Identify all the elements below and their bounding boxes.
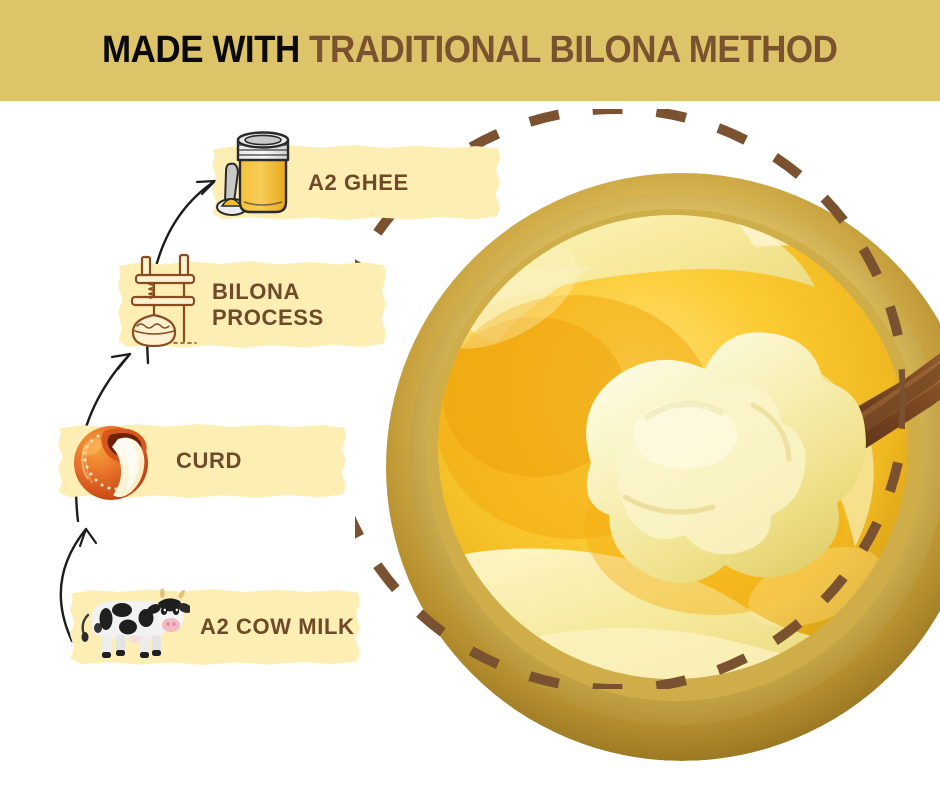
flow-step-a2-cow-milk[interactable]: A2 COW MILK xyxy=(70,589,360,665)
flow-step-label-curd: CURD xyxy=(176,448,242,474)
flow-step-label-a2-cow-milk: A2 COW MILK xyxy=(200,614,354,640)
page-title-accent: TRADITIONAL BILONA METHOD xyxy=(309,29,837,71)
page-title: MADE WITH TRADITIONAL BILONA METHOD xyxy=(102,29,837,72)
page-title-primary: MADE WITH xyxy=(102,29,309,71)
flow-step-bilona[interactable]: BILONA PROCESS xyxy=(118,261,386,348)
cow-icon xyxy=(78,585,190,665)
flow-step-curd[interactable]: CURD xyxy=(58,424,346,498)
curd-clay-pot-icon xyxy=(66,417,162,503)
header-banner: MADE WITH TRADITIONAL BILONA METHOD xyxy=(0,0,940,101)
ghee-jar-icon xyxy=(210,130,294,220)
flow-step-a2-ghee[interactable]: A2 GHEE xyxy=(212,145,500,220)
bilona-churn-icon xyxy=(120,253,202,351)
flow-step-label-a2-ghee: A2 GHEE xyxy=(308,170,409,196)
flow-step-label-bilona: BILONA PROCESS xyxy=(212,279,324,330)
process-flow: A2 GHEE xyxy=(0,101,520,788)
